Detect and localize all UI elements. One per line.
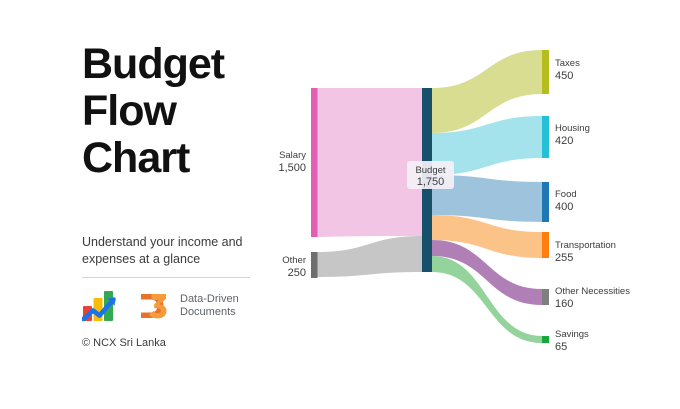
d3-logo-icon bbox=[138, 291, 172, 321]
node-label-transportation: Transportation bbox=[555, 240, 616, 251]
d3-text-line-2: Documents bbox=[180, 306, 239, 319]
title-line-1: Budget bbox=[82, 41, 272, 88]
node-salary[interactable] bbox=[311, 88, 318, 237]
node-value-salary: 1,500 bbox=[278, 162, 306, 174]
node-value-savings: 65 bbox=[555, 341, 567, 353]
node-taxes[interactable] bbox=[542, 50, 549, 94]
sankey-left-labels: Salary 1,500 Other 250 bbox=[278, 150, 306, 279]
sankey-diagram: Salary 1,500 Other 250 Taxes 450 Housing… bbox=[272, 0, 680, 409]
node-other-income[interactable] bbox=[311, 252, 318, 278]
node-label-housing: Housing bbox=[555, 123, 590, 134]
sankey-right-labels: Taxes 450 Housing 420 Food 400 Transport… bbox=[555, 58, 630, 353]
node-label-savings: Savings bbox=[555, 329, 589, 340]
node-food[interactable] bbox=[542, 182, 549, 222]
divider bbox=[82, 277, 250, 278]
node-value-budget: 1,750 bbox=[417, 176, 445, 188]
subtitle: Understand your income and expenses at a… bbox=[82, 234, 257, 268]
node-value-other-necessities: 160 bbox=[555, 298, 573, 310]
d3-logo-text: Data-Driven Documents bbox=[180, 293, 239, 319]
d3-text-line-1: Data-Driven bbox=[180, 293, 239, 306]
node-housing[interactable] bbox=[542, 116, 549, 158]
budget-flow-chart-infographic: Budget Flow Chart Understand your income… bbox=[0, 0, 680, 409]
node-other-necessities[interactable] bbox=[542, 289, 549, 305]
link-other-to-budget bbox=[317, 236, 422, 277]
page-title: Budget Flow Chart bbox=[82, 41, 272, 182]
budget-node-tooltip: Budget 1,750 bbox=[407, 161, 454, 189]
node-label-food: Food bbox=[555, 189, 577, 200]
node-label-budget: Budget bbox=[415, 165, 445, 176]
node-value-transportation: 255 bbox=[555, 252, 573, 264]
node-value-taxes: 450 bbox=[555, 70, 573, 82]
branding-row: Data-Driven Documents bbox=[82, 286, 239, 326]
node-label-taxes: Taxes bbox=[555, 58, 580, 69]
node-label-other-necessities: Other Necessities bbox=[555, 286, 630, 297]
title-line-2: Flow bbox=[82, 88, 272, 135]
left-panel: Budget Flow Chart Understand your income… bbox=[0, 0, 272, 409]
node-savings[interactable] bbox=[542, 336, 549, 343]
bar-chart-arrow-icon bbox=[82, 289, 124, 323]
title-line-3: Chart bbox=[82, 135, 272, 182]
node-value-housing: 420 bbox=[555, 135, 573, 147]
node-transportation[interactable] bbox=[542, 232, 549, 258]
node-label-other-income: Other bbox=[282, 255, 306, 266]
node-value-food: 400 bbox=[555, 201, 573, 213]
copyright-text: © NCX Sri Lanka bbox=[82, 337, 166, 349]
link-salary-to-budget bbox=[317, 88, 422, 237]
node-value-other-income: 250 bbox=[288, 267, 306, 279]
node-label-salary: Salary bbox=[279, 150, 306, 161]
